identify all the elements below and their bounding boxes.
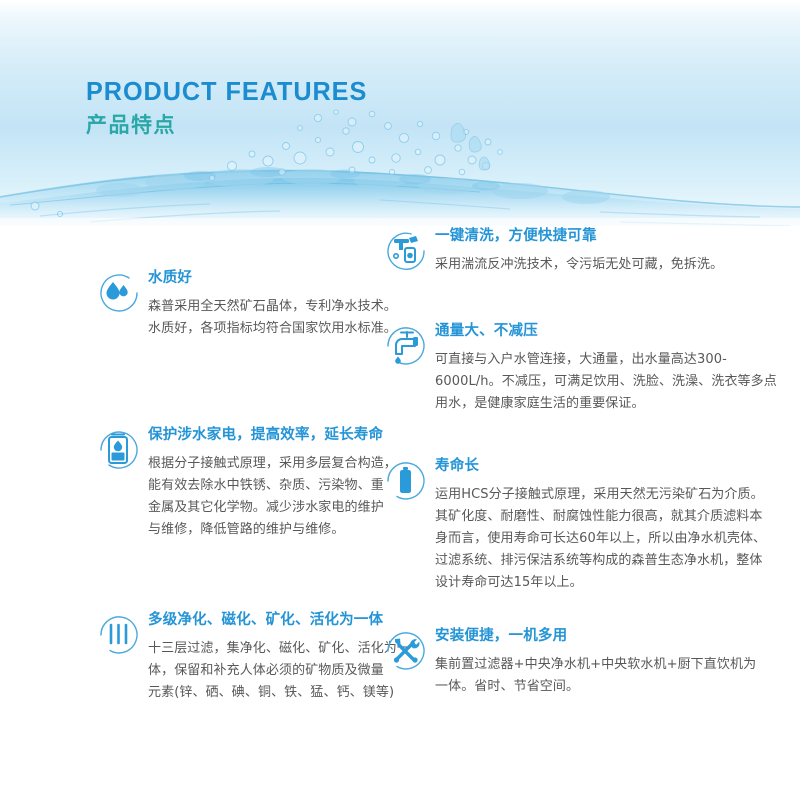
feature-text-line: 用水，是健康家庭生活的重要保证。 (435, 393, 777, 415)
features-content: 水质好 森普采用全天然矿石晶体，专利净水技术。 水质好，各项指标均符合国家饮用水… (0, 222, 800, 810)
feature-text: 十三层过滤，集净化、磁化、矿化、活化为一 体，保留和补充人体必须的矿物质及微量 … (148, 638, 410, 703)
feature-text-line: 过滤系统、排污保洁系统等构成的森普生态净水机，整体 (435, 550, 766, 572)
feature-text-line: 体，保留和补充人体必须的矿物质及微量 (148, 660, 410, 682)
water-drop-icon (96, 270, 142, 316)
feature-appliance-protection: 保护涉水家电，提高效率，延长寿命 根据分子接触式原理，采用多层复合构造， 能有效… (96, 427, 397, 541)
feature-text-line: 能有效去除水中铁锈、杂质、污染物、重 (148, 475, 397, 497)
page-title-block: PRODUCT FEATURES 产品特点 (86, 78, 376, 136)
feature-text: 运用HCS分子接触式原理，采用天然无污染矿石为介质。 其矿化度、耐磨性、耐腐蚀性… (435, 484, 766, 593)
feature-long-lifespan: 寿命长 运用HCS分子接触式原理，采用天然无污染矿石为介质。 其矿化度、耐磨性、… (383, 458, 766, 594)
feature-text: 森普采用全天然矿石晶体，专利净水技术。 水质好，各项指标均符合国家饮用水标准。 (148, 296, 397, 340)
feature-text-line: 可直接与入户水管连接，大通量，出水量高达300- (435, 349, 777, 371)
feature-text-line: 十三层过滤，集净化、磁化、矿化、活化为一 (148, 638, 410, 660)
feature-title: 水质好 (148, 270, 397, 287)
feature-text-line: 根据分子接触式原理，采用多层复合构造， (148, 453, 397, 475)
water-heater-icon (96, 427, 142, 473)
feature-text-line: 设计寿命可达15年以上。 (435, 572, 766, 594)
page-title-chinese: 产品特点 (86, 115, 376, 136)
feature-text: 采用湍流反冲洗技术，令污垢无处可藏，免拆洗。 (435, 254, 723, 276)
feature-text-line: 集前置过滤器+中央净水机+中央软水机+厨下直饮机为 (435, 654, 756, 676)
feature-title: 寿命长 (435, 458, 766, 475)
feature-one-key-wash: 一键清洗，方便快捷可靠 采用湍流反冲洗技术，令污垢无处可藏，免拆洗。 (383, 228, 723, 276)
feature-title: 保护涉水家电，提高效率，延长寿命 (148, 427, 397, 444)
feature-text-line: 元素(锌、硒、碘、铜、铁、猛、钙、镁等) (148, 682, 410, 704)
feature-text-line: 采用湍流反冲洗技术，令污垢无处可藏，免拆洗。 (435, 254, 723, 276)
tools-icon (383, 628, 429, 674)
feature-title: 一键清洗，方便快捷可靠 (435, 228, 723, 245)
feature-text-line: 水质好，各项指标均符合国家饮用水标准。 (148, 318, 397, 340)
feature-text-line: 与维修，降低管路的维护与维修。 (148, 519, 397, 541)
feature-text-line: 6000L/h。不减压，可满足饮用、洗脸、洗澡、洗衣等多点 (435, 371, 777, 393)
one-key-wash-icon (383, 228, 429, 274)
feature-title: 多级净化、磁化、矿化、活化为一体 (148, 612, 410, 629)
feature-text: 集前置过滤器+中央净水机+中央软水机+厨下直饮机为 一体。省时、节省空间。 (435, 654, 756, 698)
feature-title: 安装便捷，一机多用 (435, 628, 756, 645)
page-title-english: PRODUCT FEATURES (86, 78, 367, 104)
feature-high-flow: 通量大、不减压 可直接与入户水管连接，大通量，出水量高达300- 6000L/h… (383, 323, 777, 415)
feature-text-line: 一体。省时、节省空间。 (435, 676, 756, 698)
feature-title: 通量大、不减压 (435, 323, 777, 340)
feature-text: 可直接与入户水管连接，大通量，出水量高达300- 6000L/h。不减压，可满足… (435, 349, 777, 414)
filter-layers-icon (96, 612, 142, 658)
feature-text-line: 金属及其它化学物。减少涉水家电的维护 (148, 497, 397, 519)
feature-text: 根据分子接触式原理，采用多层复合构造， 能有效去除水中铁锈、杂质、污染物、重 金… (148, 453, 397, 540)
feature-text-line: 其矿化度、耐磨性、耐腐蚀性能力很高，就其介质滤料本 (435, 506, 766, 528)
battery-icon (383, 458, 429, 504)
feature-text-line: 运用HCS分子接触式原理，采用天然无污染矿石为介质。 (435, 484, 766, 506)
feature-water-quality: 水质好 森普采用全天然矿石晶体，专利净水技术。 水质好，各项指标均符合国家饮用水… (96, 270, 397, 340)
feature-easy-install: 安装便捷，一机多用 集前置过滤器+中央净水机+中央软水机+厨下直饮机为 一体。省… (383, 628, 756, 698)
water-banner: PRODUCT FEATURES 产品特点 (0, 0, 800, 232)
feature-text-line: 森普采用全天然矿石晶体，专利净水技术。 (148, 296, 397, 318)
faucet-icon (383, 323, 429, 369)
feature-multistage-purification: 多级净化、磁化、矿化、活化为一体 十三层过滤，集净化、磁化、矿化、活化为一 体，… (96, 612, 410, 704)
feature-text-line: 身而言，使用寿命可长达60年以上，所以由净水机壳体、 (435, 528, 766, 550)
